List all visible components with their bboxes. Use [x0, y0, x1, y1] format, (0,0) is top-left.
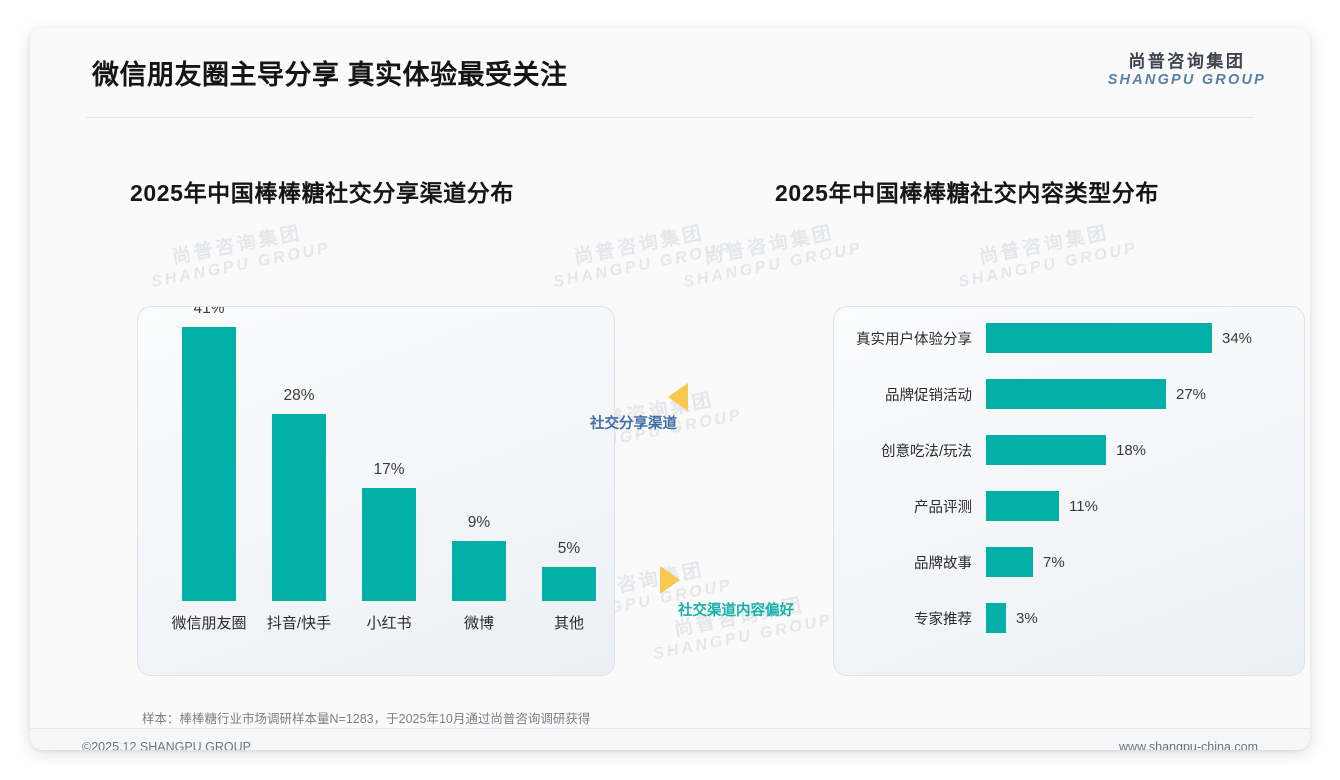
bar-rect[interactable]: [452, 541, 506, 601]
bar-category-label: 微博: [464, 612, 494, 633]
bar-category-label: 品牌促销活动: [834, 384, 986, 405]
left-chart-panel: 41% 微信朋友圈 28% 抖音/快手 17% 小红书 9%: [137, 306, 615, 676]
bar-rect[interactable]: [272, 414, 326, 601]
watermark: 尚普咨询集团 SHANGPU GROUP: [146, 219, 332, 292]
bar-group[interactable]: 5% 其他: [542, 567, 596, 601]
bar-value-label: 27%: [1176, 386, 1206, 403]
bar-value-label: 41%: [193, 306, 224, 318]
bar-group[interactable]: 41% 微信朋友圈: [182, 327, 236, 601]
slide-body: 尚普咨询集团 SHANGPU GROUP 尚普咨询集团 SHANGPU GROU…: [30, 118, 1310, 708]
annotation-label: 社交分享渠道: [590, 412, 677, 433]
bar-row[interactable]: 产品评测 11%: [834, 491, 1304, 521]
bar-category-label: 产品评测: [834, 496, 986, 517]
bar-row[interactable]: 品牌故事 7%: [834, 547, 1304, 577]
bar-rect[interactable]: [986, 547, 1033, 577]
right-chart-panel: 真实用户体验分享 34% 品牌促销活动 27% 创意吃法/玩法 18% 产品评测…: [833, 306, 1305, 676]
bar-category-label: 小红书: [366, 612, 411, 633]
bar-rect[interactable]: [986, 379, 1166, 409]
bar-rect[interactable]: [542, 567, 596, 601]
watermark: 尚普咨询集团 SHANGPU GROUP: [678, 219, 864, 292]
bar-category-label: 品牌故事: [834, 552, 986, 573]
watermark: 尚普咨询集团 SHANGPU GROUP: [953, 219, 1139, 292]
bar-rect[interactable]: [362, 488, 416, 601]
slide-header: 微信朋友圈主导分享 真实体验最受关注 尚普咨询集团 SHANGPU GROUP: [30, 28, 1310, 117]
slide-card: 微信朋友圈主导分享 真实体验最受关注 尚普咨询集团 SHANGPU GROUP …: [30, 28, 1310, 750]
right-chart-title: 2025年中国棒棒糖社交内容类型分布: [775, 174, 1159, 208]
bar-rect[interactable]: [986, 491, 1059, 521]
bar-value-label: 7%: [1043, 554, 1065, 571]
bar-row[interactable]: 真实用户体验分享 34%: [834, 323, 1304, 353]
triangle-left-icon: [668, 383, 688, 411]
bar-group[interactable]: 9% 微博: [452, 541, 506, 601]
bar-group[interactable]: 28% 抖音/快手: [272, 414, 326, 601]
vertical-bar-chart: 41% 微信朋友圈 28% 抖音/快手 17% 小红书 9%: [138, 307, 614, 675]
triangle-right-icon: [660, 566, 680, 594]
brand-logo: 尚普咨询集团 SHANGPU GROUP: [1108, 51, 1266, 90]
bar-value-label: 3%: [1016, 610, 1038, 627]
watermark: 尚普咨询集团 SHANGPU GROUP: [548, 219, 734, 292]
left-chart-title: 2025年中国棒棒糖社交分享渠道分布: [130, 174, 514, 208]
bar-value-label: 5%: [558, 540, 580, 558]
bar-rect[interactable]: [986, 603, 1006, 633]
website-link[interactable]: www.shangpu-china.com: [1119, 740, 1258, 750]
bar-value-label: 18%: [1116, 442, 1146, 459]
annotation-label: 社交渠道内容偏好: [678, 599, 794, 620]
logo-chinese-text: 尚普咨询集团: [1108, 51, 1266, 72]
bar-category-label: 真实用户体验分享: [834, 328, 986, 349]
bar-row[interactable]: 专家推荐 3%: [834, 603, 1304, 633]
bar-value-label: 9%: [468, 514, 490, 532]
logo-english-text: SHANGPU GROUP: [1108, 72, 1266, 89]
bar-value-label: 34%: [1222, 330, 1252, 347]
bar-category-label: 其他: [554, 612, 584, 633]
bar-value-label: 28%: [283, 387, 314, 405]
sample-note: 样本：棒棒糖行业市场调研样本量N=1283，于2025年10月通过尚普咨询调研获…: [142, 708, 590, 727]
page-title: 微信朋友圈主导分享 真实体验最受关注: [92, 53, 568, 92]
bar-group[interactable]: 17% 小红书: [362, 488, 416, 601]
bar-value-label: 17%: [373, 461, 404, 479]
bar-rect[interactable]: [986, 323, 1212, 353]
bar-row[interactable]: 创意吃法/玩法 18%: [834, 435, 1304, 465]
bar-category-label: 微信朋友圈: [171, 612, 246, 633]
bar-category-label: 专家推荐: [834, 608, 986, 629]
annotation-channel-content-preference: 社交渠道内容偏好: [660, 566, 840, 626]
bar-rect[interactable]: [986, 435, 1106, 465]
bar-category-label: 抖音/快手: [267, 612, 331, 633]
bar-row[interactable]: 品牌促销活动 27%: [834, 379, 1304, 409]
bar-category-label: 创意吃法/玩法: [834, 440, 986, 461]
annotation-social-share-channel: 社交分享渠道: [590, 383, 720, 443]
copyright-text: ©2025.12 SHANGPU GROUP: [82, 740, 251, 750]
bar-value-label: 11%: [1069, 498, 1098, 515]
bar-rect[interactable]: [182, 327, 236, 601]
